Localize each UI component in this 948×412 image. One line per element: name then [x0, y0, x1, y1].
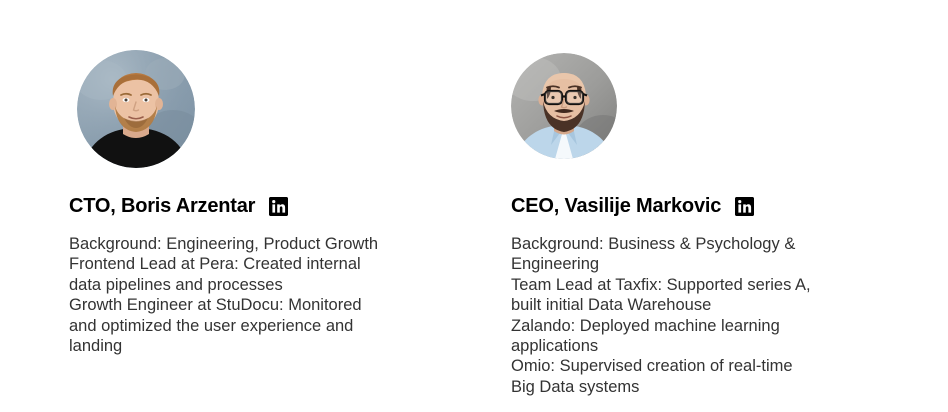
member-name: CEO, Vasilije Markovic — [511, 196, 721, 216]
bio-line: Background: Business & Psychology & — [511, 234, 871, 254]
bio-line: Omio: Supervised creation of real-time — [511, 356, 871, 376]
member-bio-cto: Background: Engineering, Product Growth … — [69, 234, 429, 356]
team-members-section: CTO, Boris Arzentar Background: Engineer… — [0, 0, 948, 412]
avatar-photo-vasilije — [511, 53, 617, 159]
bio-line: built initial Data Warehouse — [511, 295, 871, 315]
bio-line: Team Lead at Taxfix: Supported series A, — [511, 275, 871, 295]
member-heading-cto: CTO, Boris Arzentar — [69, 196, 288, 216]
bio-line: landing — [69, 336, 429, 356]
avatar — [77, 50, 195, 168]
linkedin-icon[interactable] — [269, 197, 288, 216]
linkedin-icon[interactable] — [735, 197, 754, 216]
bio-line: applications — [511, 336, 871, 356]
bio-line: Growth Engineer at StuDocu: Monitored — [69, 295, 429, 315]
bio-line: Background: Engineering, Product Growth — [69, 234, 429, 254]
bio-line: Frontend Lead at Pera: Created internal — [69, 254, 429, 274]
bio-line: data pipelines and processes — [69, 275, 429, 295]
avatar — [511, 53, 617, 159]
member-heading-ceo: CEO, Vasilije Markovic — [511, 196, 754, 216]
bio-line: Big Data systems — [511, 377, 871, 397]
member-name: CTO, Boris Arzentar — [69, 196, 255, 216]
bio-line: Engineering — [511, 254, 871, 274]
avatar-photo-boris — [77, 50, 195, 168]
member-bio-ceo: Background: Business & Psychology & Engi… — [511, 234, 871, 397]
bio-line: Zalando: Deployed machine learning — [511, 316, 871, 336]
bio-line: and optimized the user experience and — [69, 316, 429, 336]
